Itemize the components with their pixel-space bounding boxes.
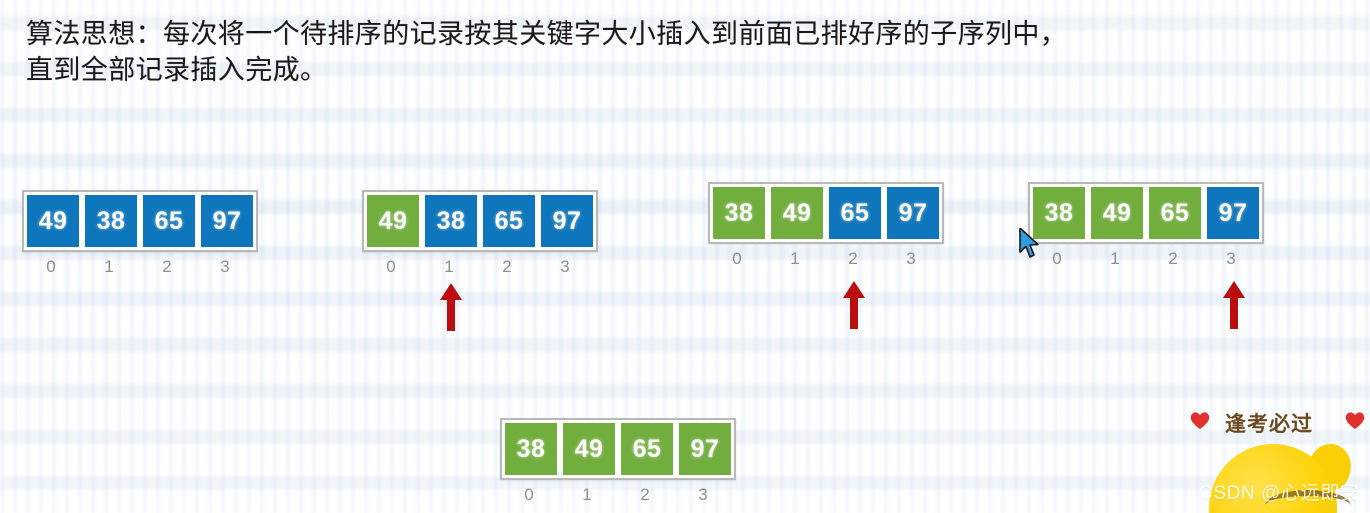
array-step-4: 38 49 65 97 0 1 2 3 (1028, 182, 1264, 269)
array-step-1: 49 38 65 97 0 1 2 3 (22, 190, 258, 277)
array-index-label: 1 (766, 249, 824, 269)
array-index-label: 1 (1086, 249, 1144, 269)
array-cell[interactable]: 97 (884, 184, 942, 242)
array-index-label: 3 (674, 485, 732, 505)
array-cell[interactable]: 65 (618, 420, 676, 478)
array-index-label: 3 (196, 257, 254, 277)
array-cell[interactable]: 38 (710, 184, 768, 242)
array-cell[interactable]: 97 (198, 192, 256, 250)
red-up-arrow-step-2 (439, 283, 463, 331)
mouse-pointer-icon (1019, 228, 1041, 260)
array-step-3: 38 49 65 97 0 1 2 3 (708, 182, 944, 269)
array-step-5: 38 49 65 97 0 1 2 3 (500, 418, 736, 505)
array-cell[interactable]: 49 (768, 184, 826, 242)
array-index-label: 0 (500, 485, 558, 505)
array-index-label: 2 (616, 485, 674, 505)
red-up-arrow-step-3 (842, 281, 866, 329)
array-index-label: 2 (138, 257, 196, 277)
array-index-row: 0 1 2 3 (362, 257, 598, 277)
array-index-label: 2 (1144, 249, 1202, 269)
array-index-row: 0 1 2 3 (500, 485, 736, 505)
csdn-watermark: CSDN @心远即安 (1199, 478, 1359, 505)
array-cells: 38 49 65 97 (1028, 182, 1264, 244)
heart-icon (1344, 410, 1366, 430)
array-cell[interactable]: 65 (826, 184, 884, 242)
array-index-label: 2 (478, 257, 536, 277)
sticker-watermark-group: 逢考必过 CSDN @心远即安 (1183, 400, 1370, 513)
array-cell[interactable]: 38 (502, 420, 560, 478)
array-index-label: 0 (362, 257, 420, 277)
array-index-row: 0 1 2 3 (708, 249, 944, 269)
array-cells: 49 38 65 97 (22, 190, 258, 252)
heart-icon (1189, 410, 1211, 430)
array-index-label: 0 (708, 249, 766, 269)
array-index-label: 1 (420, 257, 478, 277)
array-cell[interactable]: 38 (422, 192, 480, 250)
array-index-label: 0 (22, 257, 80, 277)
array-cell[interactable]: 97 (1204, 184, 1262, 242)
array-index-label: 1 (80, 257, 138, 277)
array-index-label: 3 (1202, 249, 1260, 269)
array-index-label: 3 (882, 249, 940, 269)
array-cell[interactable]: 38 (82, 192, 140, 250)
array-cells: 38 49 65 97 (708, 182, 944, 244)
array-index-row: 0 1 2 3 (1028, 249, 1264, 269)
array-cell[interactable]: 49 (1088, 184, 1146, 242)
array-cell[interactable]: 49 (364, 192, 422, 250)
sticker-title: 逢考必过 (1225, 408, 1313, 438)
array-cell[interactable]: 65 (140, 192, 198, 250)
array-cell[interactable]: 97 (538, 192, 596, 250)
array-index-label: 2 (824, 249, 882, 269)
array-cell[interactable]: 65 (1146, 184, 1204, 242)
array-step-2: 49 38 65 97 0 1 2 3 (362, 190, 598, 277)
red-up-arrow-step-4 (1222, 281, 1246, 329)
array-cell[interactable]: 65 (480, 192, 538, 250)
array-index-label: 1 (558, 485, 616, 505)
array-cell[interactable]: 49 (24, 192, 82, 250)
page-title: 算法思想：每次将一个待排序的记录按其关键字大小插入到前面已排好序的子序列中， 直… (26, 17, 1356, 89)
array-index-label: 3 (536, 257, 594, 277)
array-cell[interactable]: 49 (560, 420, 618, 478)
slide-canvas: 算法思想：每次将一个待排序的记录按其关键字大小插入到前面已排好序的子序列中， 直… (0, 0, 1370, 513)
array-cell[interactable]: 97 (676, 420, 734, 478)
array-cells: 49 38 65 97 (362, 190, 598, 252)
array-index-row: 0 1 2 3 (22, 257, 258, 277)
array-cells: 38 49 65 97 (500, 418, 736, 480)
